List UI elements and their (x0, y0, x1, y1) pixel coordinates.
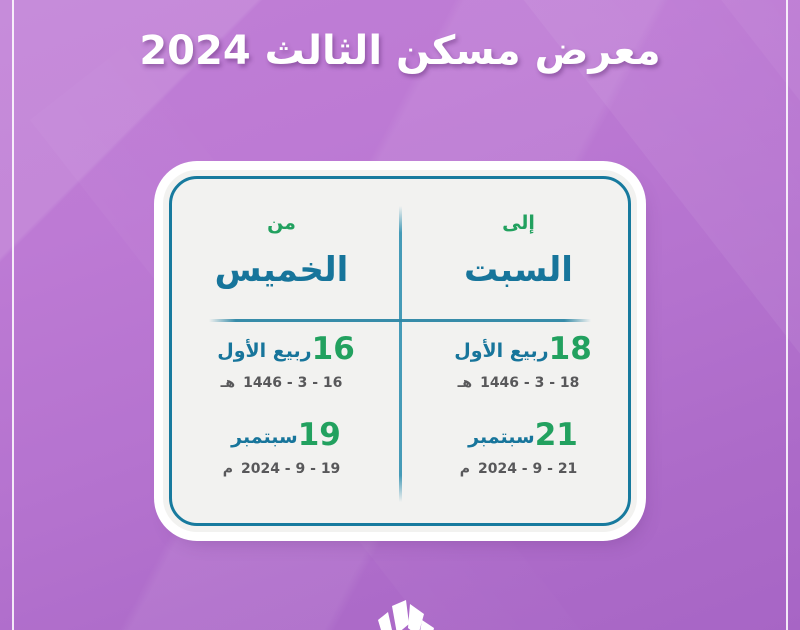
white-petals-emblem (362, 594, 440, 630)
hijri-month-name-to: ربيع الأول (454, 340, 548, 362)
gregorian-month-name-to: سبتمبر (468, 426, 535, 448)
gregorian-date-numeric-value-from: 19 - 9 - 2024 (241, 461, 340, 477)
hijri-date-main-from: 16ربيع الأول (163, 332, 400, 368)
gregorian-date-main-from: 19سبتمبر (163, 418, 400, 454)
horizontal-divider (209, 319, 591, 322)
hijri-date-to: 18ربيع الأول 18 - 3 - 1446هـ (400, 332, 637, 391)
hijri-era-from: هـ (221, 375, 236, 391)
hijri-date-numeric-value-to: 18 - 3 - 1446 (480, 375, 579, 391)
date-column-from: من الخميس 16ربيع الأول 16 - 3 - 1446هـ 1… (163, 170, 400, 532)
page-title: معرض مسكن الثالث 2024 (0, 26, 800, 76)
hijri-month-name-from: ربيع الأول (217, 340, 311, 362)
hijri-day-number-from: 16 (312, 331, 355, 367)
hijri-date-numeric-from: 16 - 3 - 1446هـ (163, 375, 400, 391)
gregorian-date-to: 21سبتمبر 21 - 9 - 2024م (400, 418, 637, 477)
gregorian-date-numeric-from: 19 - 9 - 2024م (163, 461, 400, 477)
poster-canvas: معرض مسكن الثالث 2024 إلى السبت 18ربيع ا… (0, 0, 800, 630)
gregorian-date-from: 19سبتمبر 19 - 9 - 2024م (163, 418, 400, 477)
left-edge-rule (12, 0, 14, 630)
hijri-date-from: 16ربيع الأول 16 - 3 - 1446هـ (163, 332, 400, 391)
hijri-date-main-to: 18ربيع الأول (400, 332, 637, 368)
hijri-era-to: هـ (458, 375, 473, 391)
date-column-to: إلى السبت 18ربيع الأول 18 - 3 - 1446هـ 2… (400, 170, 637, 532)
gregorian-date-main-to: 21سبتمبر (400, 418, 637, 454)
event-dates-card: إلى السبت 18ربيع الأول 18 - 3 - 1446هـ 2… (163, 170, 637, 532)
hijri-date-numeric-value-from: 16 - 3 - 1446 (243, 375, 342, 391)
right-edge-rule (786, 0, 788, 630)
column-label-to: إلى (400, 212, 637, 234)
gregorian-month-name-from: سبتمبر (231, 426, 298, 448)
gregorian-date-numeric-value-to: 21 - 9 - 2024 (478, 461, 577, 477)
column-label-from: من (163, 212, 400, 234)
gregorian-day-number-from: 19 (298, 417, 341, 453)
hijri-day-number-to: 18 (549, 331, 592, 367)
gregorian-day-number-to: 21 (535, 417, 578, 453)
column-day-name-from: الخميس (163, 250, 400, 291)
hijri-date-numeric-to: 18 - 3 - 1446هـ (400, 375, 637, 391)
gregorian-era-to: م (460, 461, 470, 477)
vertical-divider (399, 206, 402, 502)
gregorian-date-numeric-to: 21 - 9 - 2024م (400, 461, 637, 477)
background-sheen-2 (690, 0, 800, 630)
gregorian-era-from: م (223, 461, 233, 477)
column-day-name-to: السبت (400, 250, 637, 291)
